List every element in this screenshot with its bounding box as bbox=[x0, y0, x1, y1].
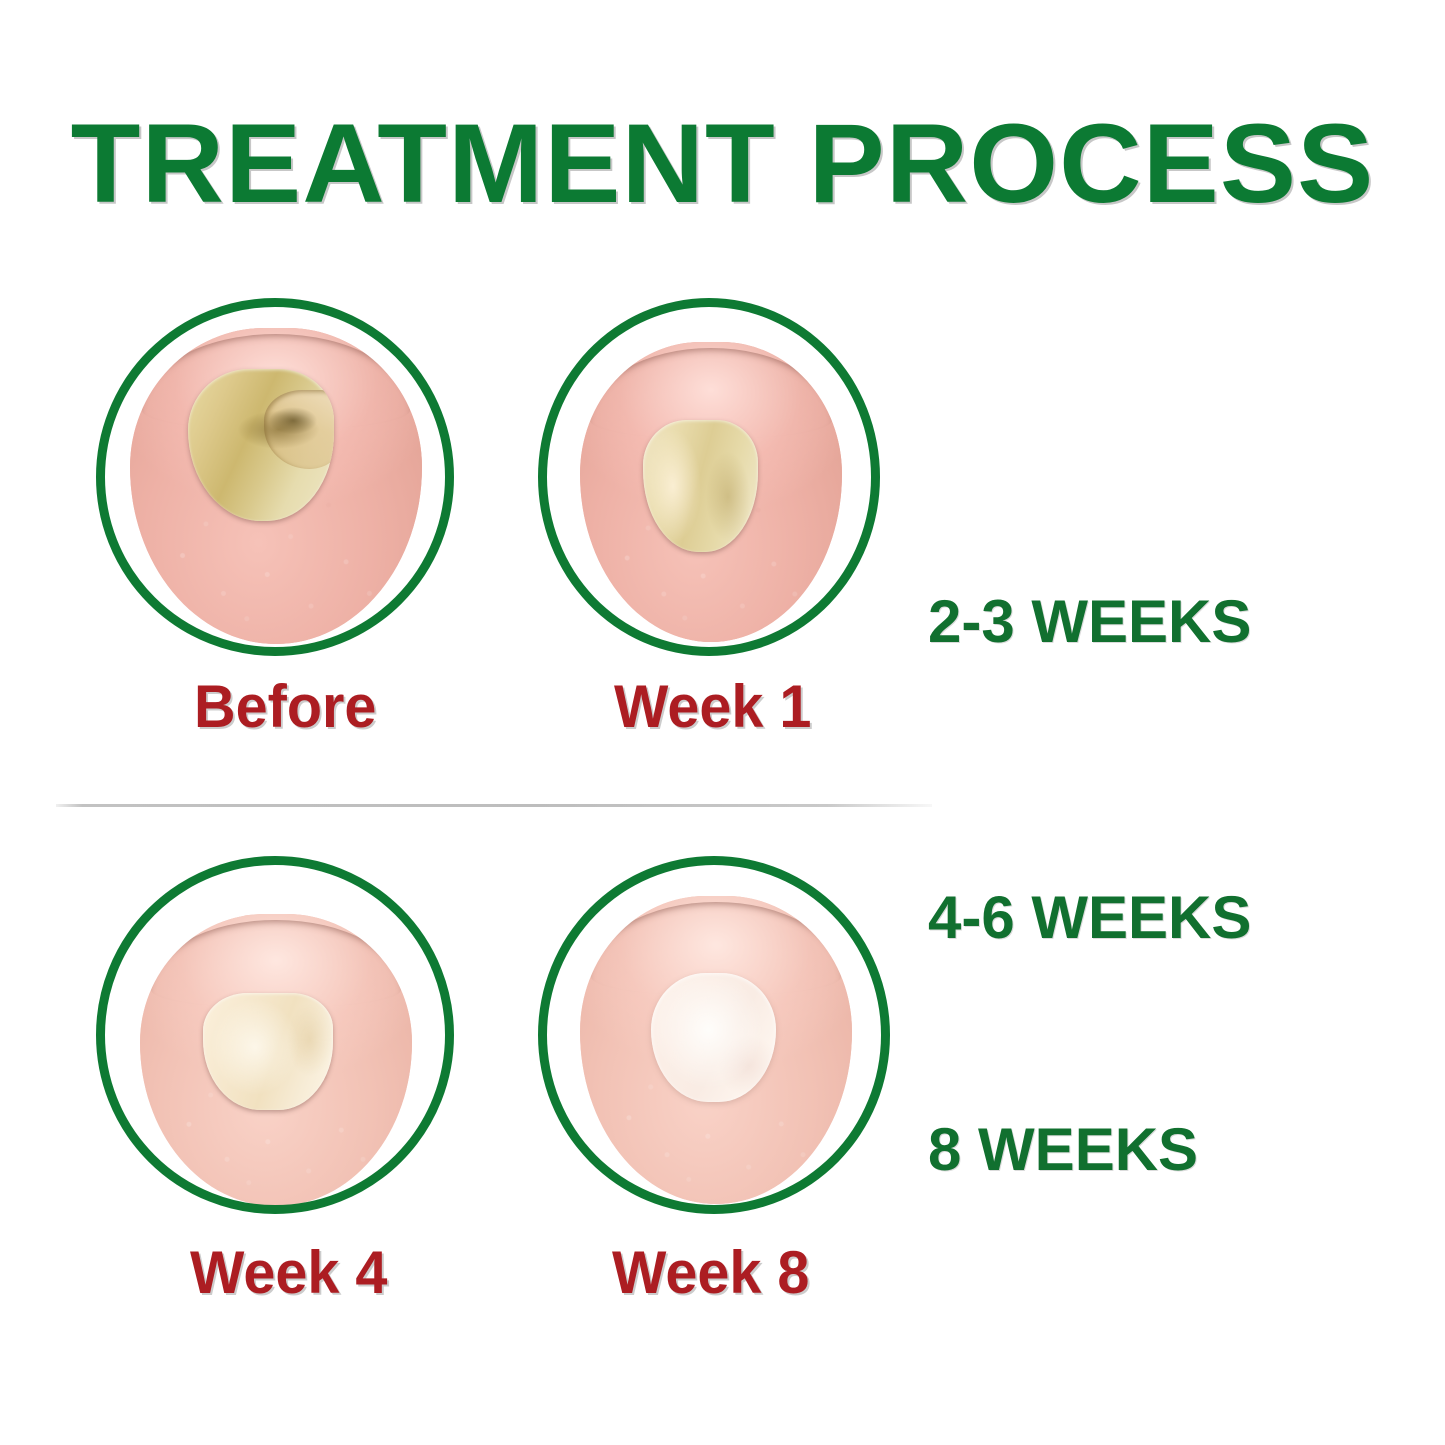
caption-week-4: Week 4 bbox=[190, 1243, 387, 1303]
annotation-2-3-weeks: 2-3 WEEKS bbox=[928, 592, 1251, 652]
row-divider bbox=[56, 804, 932, 807]
stage-photo-before bbox=[96, 298, 454, 656]
nail-plate-healthy bbox=[651, 973, 776, 1102]
nail-photo-week-1 bbox=[580, 342, 842, 642]
page-title: TREATMENT PROCESS bbox=[0, 108, 1445, 220]
nail-plate-diseased bbox=[188, 369, 334, 521]
nail-photo-week-8 bbox=[580, 896, 852, 1204]
nail-photo-week-4 bbox=[140, 914, 412, 1206]
caption-week-1: Week 1 bbox=[614, 677, 811, 737]
stage-photo-week-1 bbox=[538, 298, 880, 656]
nail-plate-improving bbox=[643, 420, 758, 552]
annotation-4-6-weeks: 4-6 WEEKS bbox=[928, 888, 1251, 948]
treatment-process-infographic: TREATMENT PROCESS Before Week 1 2-3 WEEK… bbox=[0, 0, 1445, 1445]
annotation-8-weeks: 8 WEEKS bbox=[928, 1120, 1198, 1180]
caption-before: Before bbox=[194, 677, 376, 737]
caption-week-8: Week 8 bbox=[612, 1243, 809, 1303]
nail-photo-before bbox=[130, 328, 422, 644]
stage-photo-week-4 bbox=[96, 856, 454, 1214]
nail-plate-near-clear bbox=[203, 993, 334, 1110]
stage-photo-week-8 bbox=[538, 856, 890, 1214]
